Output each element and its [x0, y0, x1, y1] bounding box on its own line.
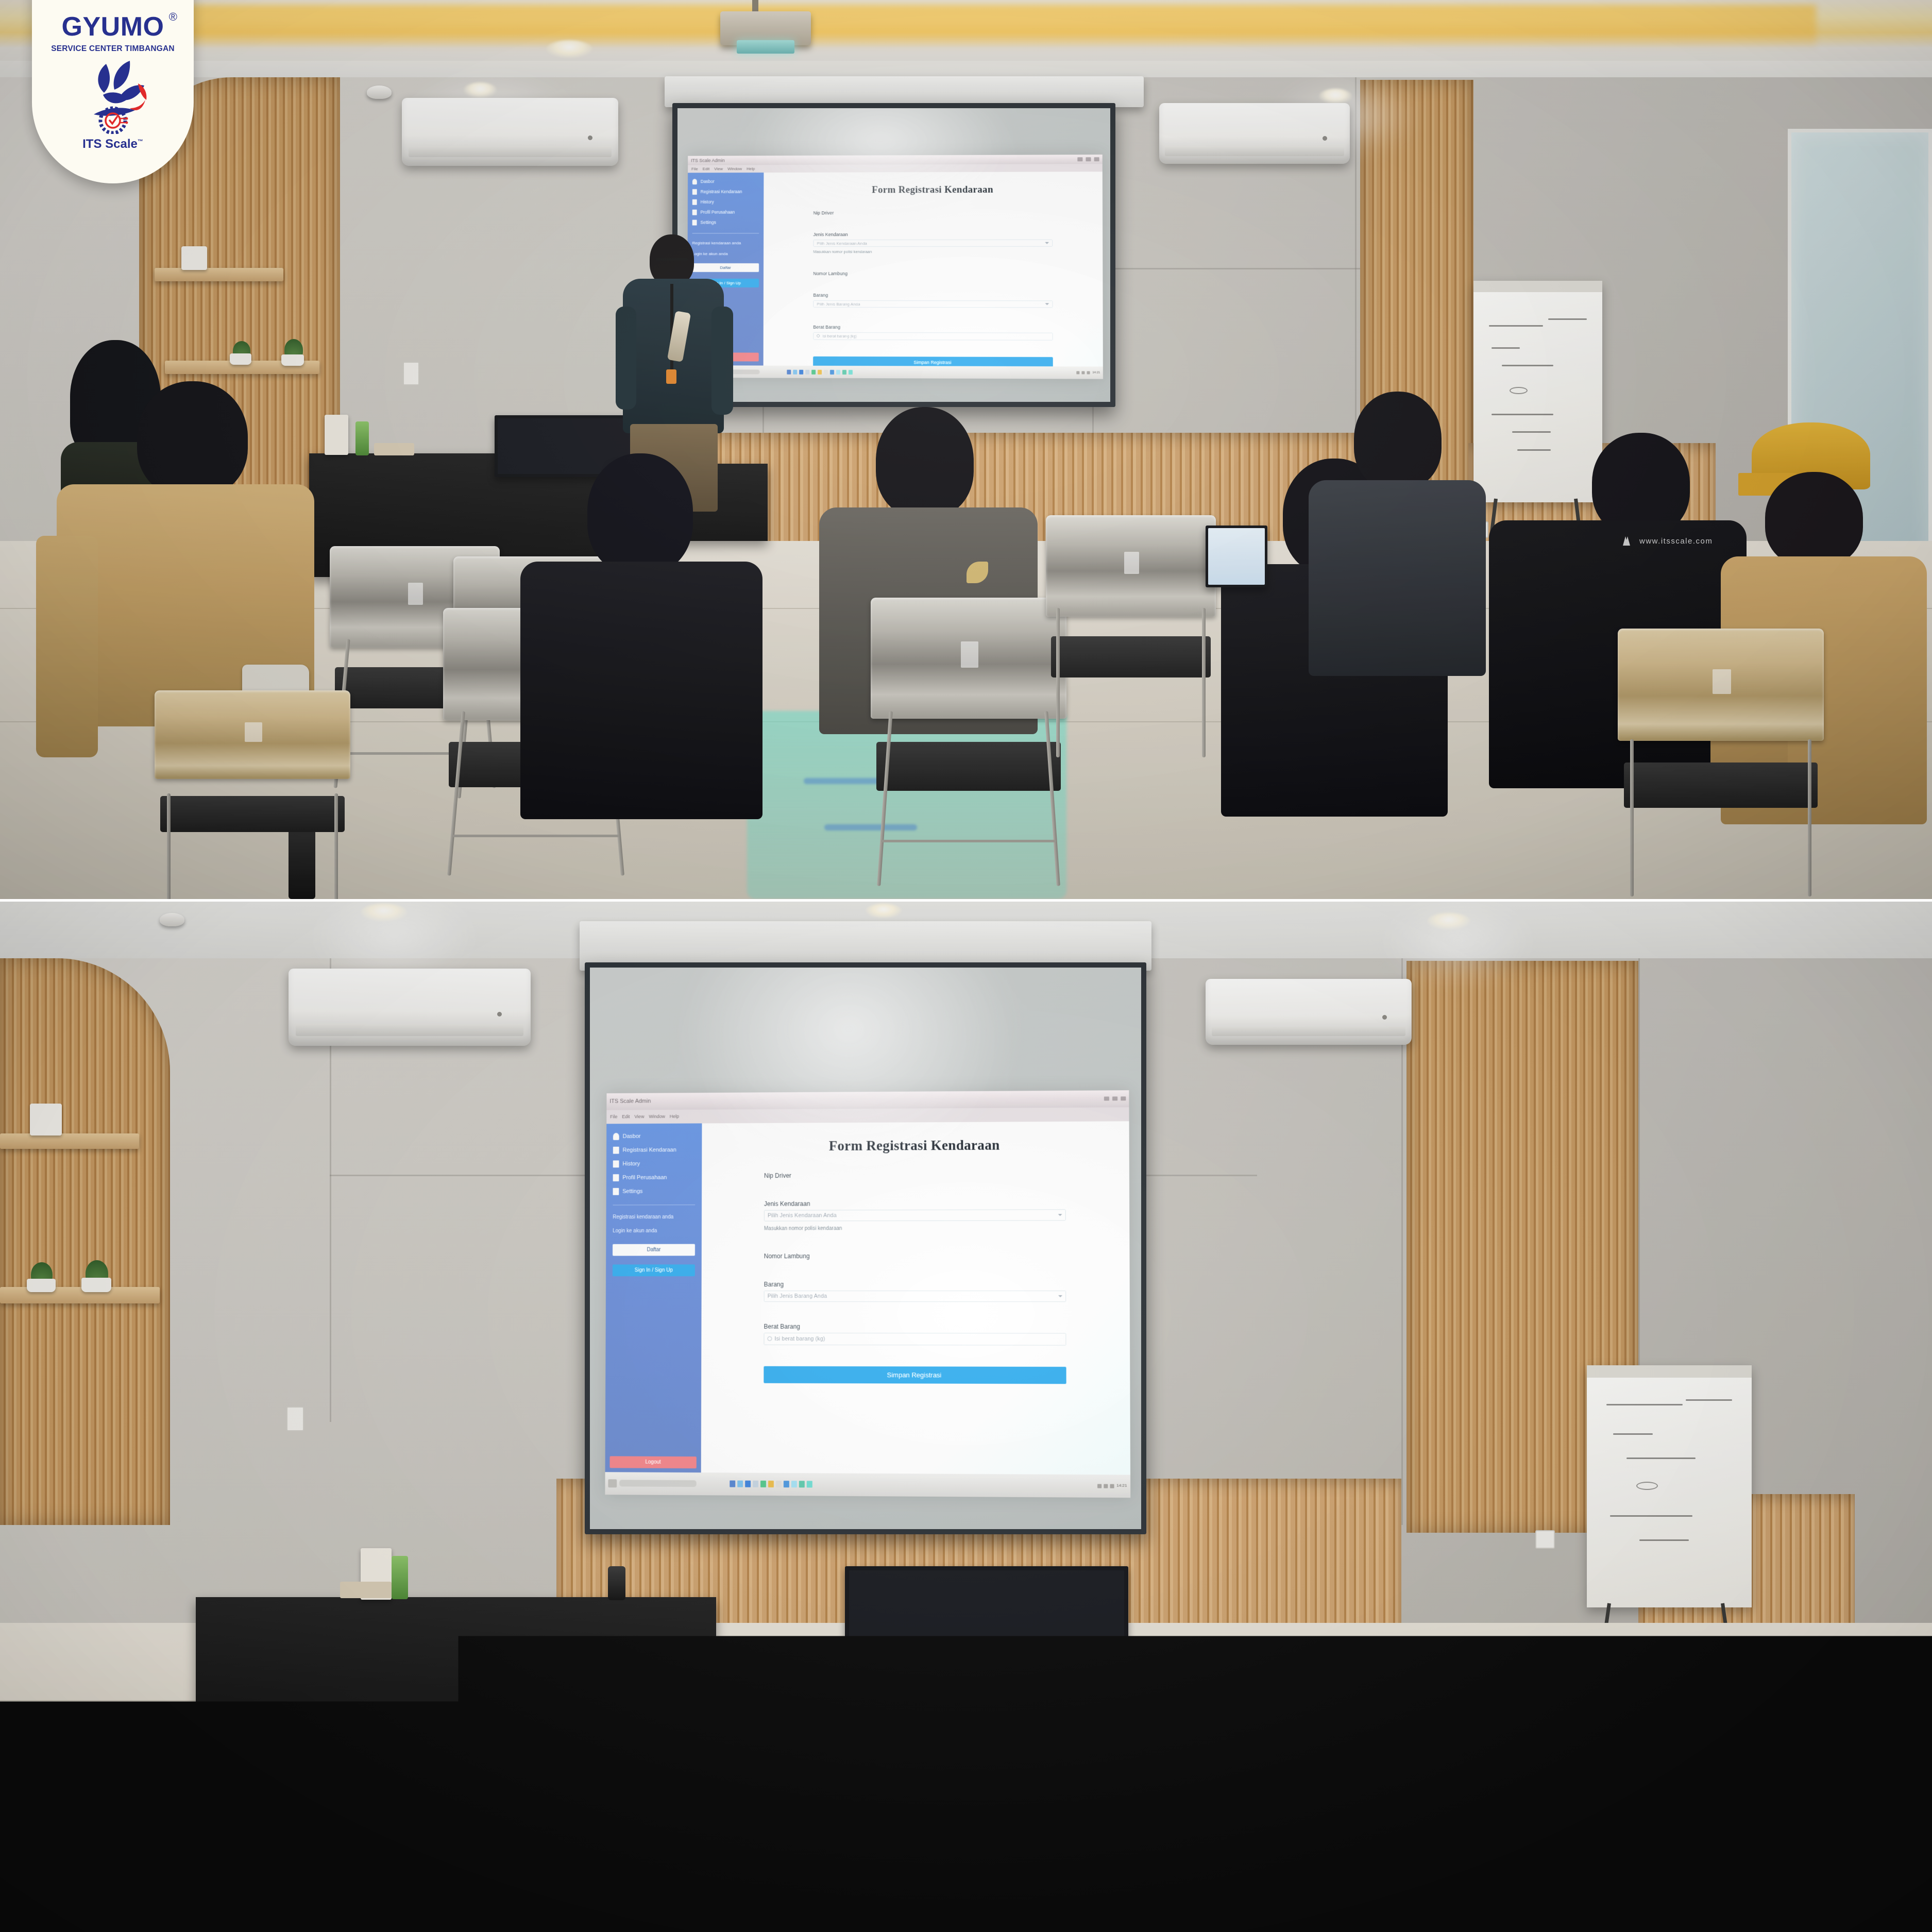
- chair[interactable]: [155, 690, 350, 899]
- input-placeholder: Isi berat barang (kg): [822, 334, 857, 338]
- presenter-arm-left: [616, 307, 636, 410]
- taskbar-app-icon[interactable]: [730, 1481, 735, 1487]
- minimize-button[interactable]: [1077, 157, 1082, 161]
- maximize-button[interactable]: [1086, 157, 1091, 161]
- flipchart-note: [1492, 347, 1520, 349]
- flipchart-note: [1613, 1433, 1653, 1435]
- cove-light-glow: [116, 5, 1816, 49]
- taskbar-app-icon[interactable]: [745, 1481, 751, 1487]
- taskbar-clock[interactable]: 14:21: [1092, 371, 1100, 375]
- chair-badge: [961, 641, 978, 668]
- ac-indicator-icon: [1323, 136, 1327, 141]
- chair[interactable]: [871, 598, 1066, 886]
- sub-brand: ITS Scale™: [82, 137, 143, 151]
- submit-button[interactable]: Simpan Registrasi: [764, 1366, 1066, 1384]
- select-placeholder: Pilih Jenis Barang Anda: [767, 1293, 827, 1299]
- minimize-button[interactable]: [1104, 1097, 1109, 1101]
- gear-icon: [613, 1188, 619, 1195]
- presenter-arm-right: [1294, 1844, 1348, 1932]
- taskbar-app-icon[interactable]: [737, 1481, 743, 1487]
- attendee-grey-jacket: [793, 1824, 1041, 1932]
- taskbar-app-icon[interactable]: [799, 1481, 805, 1487]
- sidebar-divider: [613, 1205, 695, 1205]
- taskbar-app-icon[interactable]: [836, 370, 840, 375]
- sidebar-item-label: Registrasi Kendaraan: [700, 189, 742, 194]
- attendee-black-tee: [428, 1896, 737, 1932]
- attendee-head: [1765, 472, 1863, 567]
- chair-badge: [1713, 669, 1731, 694]
- brand-logo-badge: GYUMO ® SERVICE CENTER TIMBANGAN: [32, 0, 194, 183]
- bottom-photo-panel: ITS Scale Admin File Edit View Window He…: [0, 902, 1932, 1932]
- chair-rail: [881, 840, 1056, 842]
- app-body: Dasbor Registrasi Kendaraan History: [605, 1121, 1130, 1475]
- attendee-head: [863, 1824, 974, 1932]
- jenis-kendaraan-select[interactable]: Pilih Jenis Kendaraan Anda: [764, 1209, 1065, 1221]
- scale-icon: [767, 1336, 772, 1341]
- taskbar-app-icon[interactable]: [776, 1481, 782, 1487]
- chair-leg: [1630, 739, 1634, 896]
- chair-seat: [1051, 636, 1211, 677]
- taskbar-app-icon[interactable]: [830, 370, 834, 375]
- flipchart-note: [1606, 1404, 1682, 1405]
- water-bottle: [392, 1556, 408, 1599]
- app-content: Form Registrasi Kendaraan Nip Driver Jen…: [764, 172, 1104, 366]
- sidebar-item-label: History: [700, 199, 714, 205]
- chair-badge: [1124, 552, 1140, 574]
- taskbar-app-icon[interactable]: [799, 369, 803, 374]
- taskbar-app-icon[interactable]: [818, 370, 822, 375]
- select-placeholder: Pilih Jenis Kendaraan Anda: [817, 241, 867, 246]
- gear-icon: [692, 220, 697, 226]
- projection-screen: ITS Scale Admin File Edit View Window He…: [672, 103, 1115, 407]
- taskbar-app-icon[interactable]: [842, 370, 846, 375]
- flipchart-clip: [1473, 281, 1602, 292]
- menu-item-file[interactable]: File: [691, 167, 698, 172]
- chair-backrest: [325, 1772, 531, 1893]
- chair-leg: [447, 711, 465, 875]
- app-window-title: ITS Scale Admin: [609, 1098, 651, 1105]
- taskbar-app-icon[interactable]: [807, 1481, 812, 1487]
- projected-app-window-large: ITS Scale Admin File Edit View Window He…: [605, 1090, 1130, 1498]
- ceiling-downlight: [546, 40, 592, 58]
- sidebar-item-label: Dasbor: [622, 1133, 640, 1139]
- chair-backrest: [871, 598, 1066, 719]
- flipchart-clip: [1587, 1365, 1752, 1378]
- chair-badge: [419, 1816, 438, 1843]
- chair-badge: [260, 1751, 278, 1776]
- dashboard-icon: [692, 179, 697, 184]
- sidebar-item-registrasi-kendaraan[interactable]: Registrasi Kendaraan: [613, 1146, 696, 1154]
- field-label: Nip Driver: [764, 1171, 1065, 1179]
- field-barang: Barang Pilih Jenis Barang Anda: [764, 1281, 1065, 1302]
- ceiling-downlight: [361, 904, 407, 921]
- decor-pot: [230, 353, 251, 365]
- maximize-button[interactable]: [1112, 1097, 1117, 1101]
- desk-item: [340, 1582, 392, 1598]
- form-title: Form Registrasi Kendaraan: [764, 1137, 1065, 1154]
- ac-indicator-icon: [1382, 1015, 1387, 1020]
- flipchart-note: [1548, 318, 1587, 320]
- sidebar-divider: [692, 233, 759, 233]
- wall-shelf: [0, 1133, 139, 1149]
- barang-select[interactable]: Pilih Jenis Barang Anda: [813, 300, 1053, 308]
- chair-seat: [1624, 762, 1818, 808]
- taskbar-clock[interactable]: 14:21: [1116, 1484, 1127, 1488]
- chair-badge: [157, 1902, 175, 1930]
- attendee-black-tee: [520, 453, 768, 899]
- app-sidebar: Dasbor Registrasi Kendaraan History: [605, 1123, 702, 1472]
- taskbar-app-icon[interactable]: [849, 370, 853, 375]
- training-room-bottom: ITS Scale Admin File Edit View Window He…: [0, 902, 1932, 1932]
- drink-bottle: [608, 1566, 625, 1600]
- laptop-screen: [1208, 528, 1265, 585]
- berat-barang-input[interactable]: Isi berat barang (kg): [764, 1332, 1065, 1345]
- flipchart-note: [1489, 325, 1543, 327]
- field-berat-barang: Berat Barang Isi berat barang (kg): [813, 325, 1053, 341]
- wall-shelf: [155, 268, 283, 281]
- chair-leg: [334, 793, 338, 899]
- menu-item-edit[interactable]: Edit: [702, 167, 709, 172]
- chevron-down-icon: [1058, 1295, 1062, 1297]
- ceiling-downlight: [464, 82, 497, 98]
- network-icon[interactable]: [1076, 371, 1079, 375]
- chevron-down-icon: [1045, 242, 1049, 244]
- taskbar-search-box[interactable]: [619, 1480, 696, 1487]
- field-label: Barang: [813, 293, 1053, 298]
- windows-taskbar: 14:21: [687, 365, 1104, 379]
- laptop[interactable]: [845, 1566, 1128, 1649]
- app-body: Dasbor Registrasi Kendaraan History: [687, 172, 1103, 366]
- field-label: Jenis Kendaraan: [813, 232, 1052, 237]
- sidebar-item-settings[interactable]: Settings: [613, 1188, 695, 1195]
- sidebar-item-profil-perusahaan[interactable]: Profil Perusahaan: [692, 210, 759, 215]
- decor-vase: [30, 1104, 62, 1136]
- chair-leg: [167, 793, 171, 899]
- brand-wordmark: GYUMO ®: [62, 13, 164, 40]
- field-jenis-kendaraan: Jenis Kendaraan Pilih Jenis Kendaraan An…: [764, 1199, 1066, 1231]
- projector-icon: [720, 11, 811, 45]
- volume-icon[interactable]: [1104, 1484, 1108, 1488]
- field-nip-driver: Nip Driver: [764, 1171, 1065, 1179]
- flipchart-note: [1636, 1482, 1658, 1490]
- chair-leg: [1056, 608, 1060, 757]
- decor-vase: [181, 246, 207, 270]
- field-barang: Barang Pilih Jenis Barang Anda: [813, 293, 1053, 308]
- air-conditioner: [289, 969, 531, 1046]
- chair-leg: [1808, 739, 1811, 896]
- clock-icon: [613, 1160, 619, 1167]
- chair-badge: [245, 722, 262, 742]
- screen-surface: ITS Scale Admin File Edit View Window He…: [677, 108, 1110, 402]
- berat-barang-input[interactable]: Isi berat barang (kg): [813, 332, 1053, 341]
- field-label: Nip Driver: [813, 210, 1052, 216]
- projection-screen: ITS Scale Admin File Edit View Window He…: [585, 962, 1146, 1534]
- jenis-kendaraan-select[interactable]: Pilih Jenis Kendaraan Anda: [813, 240, 1052, 247]
- attendee-arm: [36, 536, 98, 757]
- ceiling-downlight: [1319, 89, 1352, 104]
- flipchart-note: [1639, 1539, 1689, 1541]
- attendee-head: [1354, 392, 1442, 489]
- attendee-laptop[interactable]: [1206, 526, 1267, 587]
- ac-indicator-icon: [588, 135, 592, 140]
- input-placeholder: Isi berat barang (kg): [774, 1335, 825, 1342]
- flipchart-note: [1510, 387, 1528, 394]
- field-hint: Masukkan nomor polisi kendaraan: [764, 1225, 1066, 1231]
- sidebar-note-line1: Registrasi kendaraan anda: [613, 1213, 695, 1221]
- register-button[interactable]: Daftar: [613, 1244, 695, 1256]
- wall-outlet: [403, 362, 419, 385]
- air-conditioner: [1206, 979, 1412, 1045]
- chevron-down-icon: [1058, 1214, 1062, 1216]
- menu-item-help[interactable]: Help: [669, 1114, 679, 1119]
- screen-housing: [665, 76, 1144, 107]
- presenter: [1072, 1674, 1350, 1932]
- taskbar-app-icons: [787, 369, 853, 374]
- field-nip-driver: Nip Driver: [813, 210, 1052, 216]
- wall-outlet: [1535, 1530, 1555, 1549]
- taskbar-app-icon[interactable]: [793, 369, 797, 374]
- brand-tagline: SERVICE CENTER TIMBANGAN: [51, 44, 175, 54]
- sidebar-note-line2: Login ke akun anda: [613, 1228, 695, 1235]
- chair[interactable]: [1618, 629, 1824, 896]
- projected-app-window: ITS Scale Admin File Edit View Window He…: [687, 155, 1104, 379]
- sidebar-item-profil-perusahaan[interactable]: Profil Perusahaan: [613, 1174, 695, 1181]
- menu-item-window[interactable]: Window: [649, 1114, 665, 1119]
- photo-collage: ITS Scale Admin File Edit View Window He…: [0, 0, 1932, 1932]
- flipchart-note: [1686, 1399, 1732, 1401]
- jacket-website-text: www.itsscale.com: [1639, 537, 1713, 546]
- id-badge: [666, 369, 676, 384]
- sidebar-item-dasbor[interactable]: Dasbor: [692, 179, 759, 184]
- taskbar-app-icons: [730, 1481, 812, 1488]
- flipchart-note: [1492, 414, 1553, 415]
- field-label: Berat Barang: [764, 1323, 1065, 1330]
- logout-button[interactable]: Logout: [609, 1456, 696, 1468]
- sidebar-item-dasbor[interactable]: Dasbor: [613, 1132, 696, 1140]
- attendee-head: [876, 407, 974, 518]
- decor-pot: [27, 1279, 56, 1292]
- flipchart-note: [1626, 1458, 1696, 1459]
- chair-backrest: [1046, 515, 1216, 617]
- jacket-brand-icon: [1620, 535, 1633, 546]
- presenter-arm-right: [711, 307, 733, 415]
- field-label: Barang: [764, 1281, 1065, 1288]
- attendee-head: [510, 1896, 649, 1932]
- scale-icon: [817, 334, 820, 337]
- field-berat-barang: Berat Barang Isi berat barang (kg): [764, 1323, 1065, 1345]
- select-placeholder: Pilih Jenis Kendaraan Anda: [768, 1212, 837, 1218]
- sidebar-item-label: Registrasi Kendaraan: [622, 1147, 676, 1153]
- flipchart: [1587, 1365, 1752, 1607]
- sidebar-item-history[interactable]: History: [692, 199, 759, 205]
- registered-mark: ®: [169, 11, 178, 23]
- building-icon: [613, 1174, 619, 1181]
- taskbar-app-icon[interactable]: [760, 1481, 766, 1487]
- taskbar-system-tray: 14:21: [1097, 1484, 1127, 1488]
- signin-button[interactable]: Sign In / Sign Up: [613, 1264, 695, 1276]
- ceiling-downlight: [866, 904, 902, 918]
- glasses-icon: [656, 258, 688, 261]
- chair-seat: [160, 796, 344, 832]
- field-label: Berat Barang: [813, 325, 1053, 330]
- submit-button[interactable]: Simpan Registrasi: [813, 357, 1053, 366]
- trademark-mark: ™: [138, 139, 143, 145]
- training-room-top: ITS Scale Admin File Edit View Window He…: [0, 0, 1932, 899]
- close-button[interactable]: [1094, 157, 1099, 161]
- ac-indicator-icon: [497, 1012, 502, 1016]
- taskbar-app-icon[interactable]: [824, 370, 828, 375]
- barang-select[interactable]: Pilih Jenis Barang Anda: [764, 1291, 1065, 1302]
- document-icon: [613, 1146, 619, 1154]
- wall-outlet: [286, 1406, 304, 1431]
- start-button-icon[interactable]: [608, 1479, 617, 1487]
- chair-badge: [408, 583, 423, 605]
- battery-icon[interactable]: [1087, 371, 1090, 375]
- projector-lens: [737, 40, 795, 54]
- sidebar-item-label: Dasbor: [700, 179, 714, 184]
- sidebar-item-registrasi-kendaraan[interactable]: Registrasi Kendaraan: [692, 189, 759, 195]
- drink-bottle: [129, 1896, 159, 1932]
- chair-leg: [877, 711, 893, 886]
- clock-icon: [692, 199, 697, 205]
- field-label: Jenis Kendaraan: [764, 1199, 1065, 1208]
- sidebar-item-label: Profil Perusahaan: [622, 1174, 667, 1180]
- building-icon: [692, 210, 697, 215]
- chair-backrest: [62, 1855, 268, 1932]
- chevron-down-icon: [1045, 303, 1049, 306]
- menu-item-view[interactable]: View: [714, 167, 723, 172]
- wood-slat-wall: [0, 958, 170, 1525]
- attendee-grey-polo: [1309, 392, 1489, 711]
- sidebar-item-label: Profil Perusahaan: [700, 210, 735, 215]
- menu-item-edit[interactable]: Edit: [622, 1114, 630, 1119]
- sidebar-item-history[interactable]: History: [613, 1160, 695, 1167]
- document-icon: [692, 189, 697, 195]
- attendee-shirt: [520, 562, 762, 819]
- dashboard-icon: [613, 1132, 619, 1140]
- screen-surface: ITS Scale Admin File Edit View Window He…: [590, 968, 1141, 1529]
- top-photo-panel: ITS Scale Admin File Edit View Window He…: [0, 0, 1932, 899]
- glasses-icon: [1162, 1732, 1239, 1737]
- chair-leg: [1202, 608, 1206, 757]
- network-icon[interactable]: [1097, 1484, 1101, 1488]
- taskbar-system-tray: 14:21: [1076, 371, 1100, 375]
- menu-item-window[interactable]: Window: [727, 166, 742, 171]
- volume-icon[interactable]: [1082, 371, 1085, 375]
- taskbar-app-icon[interactable]: [787, 369, 791, 374]
- flipchart-note: [1512, 431, 1551, 433]
- chair-seat: [876, 742, 1060, 791]
- close-button[interactable]: [1120, 1097, 1125, 1101]
- attendee-shirt: [1309, 480, 1486, 676]
- shoe: [155, 1726, 232, 1758]
- air-conditioner: [402, 98, 618, 166]
- menu-item-help[interactable]: Help: [747, 166, 755, 171]
- menu-item-file[interactable]: File: [610, 1114, 617, 1120]
- ceiling-downlight: [1427, 913, 1470, 929]
- chair-backrest: [1618, 629, 1824, 741]
- attendee-head: [137, 381, 248, 497]
- field-jenis-kendaraan: Jenis Kendaraan Pilih Jenis Kendaraan An…: [813, 232, 1053, 254]
- menu-item-view[interactable]: View: [634, 1114, 644, 1119]
- sidebar-item-settings[interactable]: Settings: [692, 220, 759, 226]
- sidebar-item-label: Settings: [700, 220, 716, 225]
- taskbar-app-icon[interactable]: [805, 370, 809, 375]
- taskbar-app-icon[interactable]: [791, 1481, 797, 1487]
- app-titlebar: ITS Scale Admin: [606, 1090, 1129, 1110]
- form-title: Form Registrasi Kendaraan: [813, 184, 1052, 196]
- select-placeholder: Pilih Jenis Barang Anda: [817, 302, 860, 307]
- field-label: Nomor Lambung: [813, 271, 1053, 276]
- field-label: Nomor Lambung: [764, 1252, 1066, 1260]
- chair[interactable]: [62, 1855, 268, 1932]
- taskbar-app-icon[interactable]: [784, 1481, 789, 1487]
- field-nomor-lambung: Nomor Lambung: [813, 271, 1053, 276]
- sub-brand-text: ITS Scale: [82, 137, 138, 151]
- wall-shelf: [0, 1287, 160, 1303]
- taskbar-app-icon[interactable]: [768, 1481, 774, 1487]
- flipchart-note: [1610, 1515, 1692, 1517]
- its-scale-leaf-gauge-icon: [74, 57, 151, 134]
- sidebar-item-label: Settings: [622, 1188, 642, 1194]
- field-nomor-lambung: Nomor Lambung: [764, 1252, 1066, 1260]
- battery-icon[interactable]: [1110, 1484, 1114, 1488]
- app-content: Form Registrasi Kendaraan Nip Driver Jen…: [701, 1121, 1130, 1475]
- smoke-detector-icon: [160, 913, 184, 926]
- sidebar-item-label: History: [622, 1161, 640, 1167]
- smoke-detector-icon: [367, 86, 392, 99]
- decor-pot: [81, 1278, 111, 1292]
- chair[interactable]: [1046, 515, 1216, 757]
- flipchart-note: [1502, 365, 1553, 366]
- app-window-title: ITS Scale Admin: [691, 158, 725, 163]
- attendee-head: [587, 453, 693, 574]
- desk-item: [374, 443, 414, 455]
- brand-mark: ITS Scale™: [74, 57, 151, 134]
- taskbar-app-icon[interactable]: [811, 370, 816, 375]
- air-conditioner: [1159, 103, 1350, 164]
- presenter-arm-left: [1072, 1844, 1122, 1932]
- brand-name: GYUMO: [62, 12, 164, 42]
- taskbar-app-icon[interactable]: [753, 1481, 758, 1487]
- windows-taskbar: 14:21: [605, 1472, 1130, 1498]
- water-bottle: [355, 421, 369, 455]
- decor-pot: [281, 354, 304, 366]
- laptop-screen: [849, 1570, 1124, 1645]
- chair-backrest: [155, 690, 350, 779]
- field-hint: Masukkan nomor polisi kendaraan: [813, 249, 1053, 254]
